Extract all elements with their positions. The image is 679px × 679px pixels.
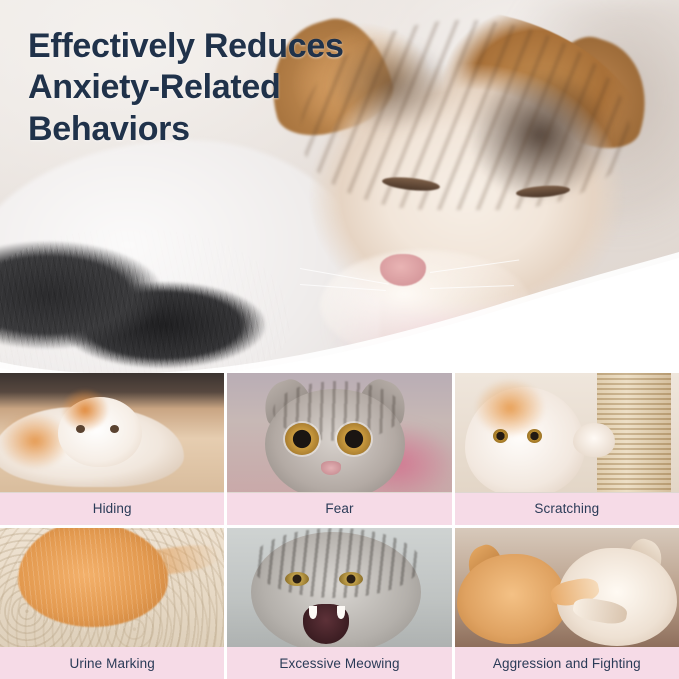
hiding-scene — [0, 373, 224, 492]
behavior-grid: Hiding Fear — [0, 373, 679, 679]
scratching-cat-left-eye — [493, 429, 508, 443]
urine-marking-cat-fur — [14, 528, 174, 632]
grid-cell-urine-marking: Urine Marking — [0, 528, 224, 679]
fighting-orange-cat — [457, 554, 567, 644]
meowing-cat-tooth — [337, 606, 345, 619]
meowing-cat-right-eye — [339, 572, 363, 586]
fear-photo — [227, 373, 451, 492]
caption-fear: Fear — [227, 493, 451, 525]
scratching-photo — [455, 373, 679, 492]
excessive-meowing-scene — [227, 528, 451, 647]
hiding-cat-head-patch — [62, 389, 108, 431]
fear-scene — [227, 373, 451, 492]
aggression-fighting-scene — [455, 528, 679, 647]
meowing-cat-left-eye — [285, 572, 309, 586]
hiding-photo — [0, 373, 224, 492]
grid-cell-fear: Fear — [227, 373, 451, 525]
grid-cell-hiding: Hiding — [0, 373, 224, 525]
caption-excessive-meowing: Excessive Meowing — [227, 647, 451, 679]
product-infographic: Effectively Reduces Anxiety-Related Beha… — [0, 0, 679, 679]
caption-hiding: Hiding — [0, 493, 224, 525]
hiding-cat-left-eye — [76, 425, 85, 433]
scratching-cat-right-eye — [527, 429, 542, 443]
hero-image: Effectively Reduces Anxiety-Related Beha… — [0, 0, 679, 395]
scratching-cat-paw — [573, 423, 615, 457]
meowing-cat-tooth — [309, 606, 317, 619]
caption-scratching: Scratching — [455, 493, 679, 525]
meowing-cat-stripes — [251, 528, 421, 598]
scratching-scene — [455, 373, 679, 492]
grid-cell-excessive-meowing: Excessive Meowing — [227, 528, 451, 679]
aggression-fighting-photo — [455, 528, 679, 647]
excessive-meowing-photo — [227, 528, 451, 647]
grid-cell-scratching: Scratching — [455, 373, 679, 525]
caption-aggression-fighting: Aggression and Fighting — [455, 647, 679, 679]
caption-urine-marking: Urine Marking — [0, 647, 224, 679]
urine-marking-scene — [0, 528, 224, 647]
page-title: Effectively Reduces Anxiety-Related Beha… — [28, 26, 418, 150]
hiding-cat-right-eye — [110, 425, 119, 433]
urine-marking-photo — [0, 528, 224, 647]
grid-cell-aggression-fighting: Aggression and Fighting — [455, 528, 679, 679]
